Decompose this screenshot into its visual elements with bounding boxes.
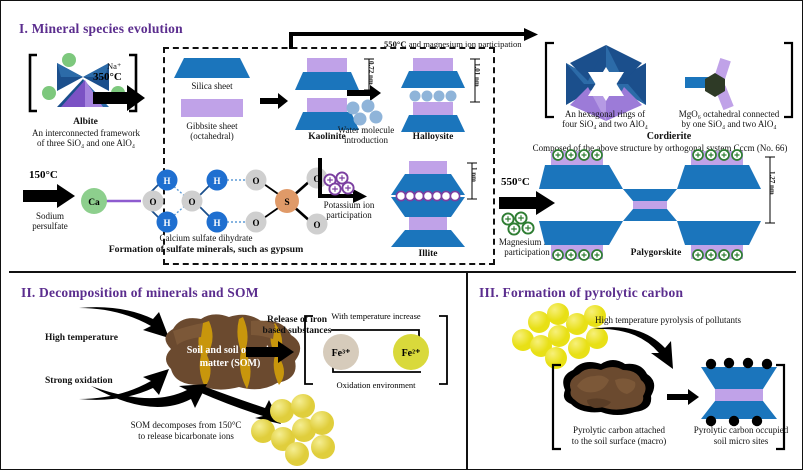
palygorskite-dimension-label: 1.27 nm xyxy=(768,171,776,195)
halloysite-dimension-label: 1.01 nm xyxy=(473,63,481,87)
cordierite-right-caption-1: MgO₆ octahedral connected xyxy=(663,109,795,119)
micro-caption-1: Pyrolytic carbon occupied xyxy=(677,425,803,435)
water-molecule-cluster-icon xyxy=(345,101,385,125)
svg-text:Fe³⁺: Fe³⁺ xyxy=(332,348,351,359)
gypsum-bold-caption: Formation of sulfate minerals, such as g… xyxy=(61,245,351,256)
potassium-label-1: Potassium ion xyxy=(313,200,385,210)
svg-text:Oxidation environment: Oxidation environment xyxy=(336,380,416,390)
arrow-release-iron-icon xyxy=(246,341,294,363)
section-1-title: I. Mineral species evolution xyxy=(19,21,183,37)
section-2-title: II. Decomposition of minerals and SOM xyxy=(21,285,259,301)
albite-name: Albite xyxy=(18,117,153,128)
soil-chunk-with-carbon xyxy=(557,356,667,418)
svg-text:Ca: Ca xyxy=(88,198,100,208)
svg-text:S: S xyxy=(284,198,289,208)
palygorskite-structure xyxy=(539,151,761,251)
albite-desc-2: of three SiO₄ and one AlO₄ xyxy=(7,138,165,148)
svg-text:H: H xyxy=(163,176,170,186)
divider-vertical xyxy=(466,273,468,469)
gypsum-caption: Calcium sulfate dihydrate xyxy=(111,233,301,243)
cordierite-left-caption-2: four SiO₄ and two AlO₄ xyxy=(545,119,665,129)
mgo6-octahedral-icon xyxy=(685,59,745,111)
gibbsite-label-1: Gibbsite sheet xyxy=(167,121,257,131)
svg-text:H: H xyxy=(163,218,170,228)
macro-caption-1: Pyrolytic carbon attached xyxy=(549,425,689,435)
macro-caption-2: to the soil surface (macro) xyxy=(549,436,689,446)
figure-root: I. Mineral species evolution Na⁺ Albite xyxy=(0,0,803,470)
kaolinite-dimension-label: 0.72 nm xyxy=(367,61,375,85)
svg-text:O: O xyxy=(313,220,320,230)
arrow-350-icon xyxy=(93,85,145,111)
section-3-title: III. Formation of pyrolytic carbon xyxy=(479,285,683,301)
albite-desc-1: An interconnected framework xyxy=(7,128,165,138)
gibbsite-label-2: (octahedral) xyxy=(167,131,257,141)
micro-site-clay-structure xyxy=(701,361,777,423)
illite-structure xyxy=(391,161,465,247)
arrow-550-top-rest: and magnesium ion participation xyxy=(407,39,522,49)
arrow-350-temp: 350°C xyxy=(93,71,122,83)
potassium-label-2: participation xyxy=(313,210,385,220)
silica-sheet-label: Silica sheet xyxy=(167,81,257,91)
arrow-550b-temp: 550°C xyxy=(501,176,530,188)
arrow-550-top-temp: 550°C xyxy=(384,39,407,49)
bicarbonate-ion-cluster-icon xyxy=(249,397,339,463)
svg-text:O: O xyxy=(252,176,259,186)
cordierite-name: Cordierite xyxy=(544,131,794,142)
halloysite-structure xyxy=(401,58,465,138)
cordierite-left-caption-1: An hexagonal rings of xyxy=(545,109,665,119)
potassium-ion-cluster-icon xyxy=(323,173,355,195)
svg-text:O: O xyxy=(149,197,156,207)
arrow-550-top-label: 550°C and magnesium ion participation xyxy=(384,39,522,49)
svg-text:H: H xyxy=(213,218,220,228)
svg-text:O: O xyxy=(252,218,259,228)
svg-text:H: H xyxy=(213,176,220,186)
gibbsite-sheet-legend xyxy=(181,99,243,117)
magnesium-ion-cluster-icon xyxy=(501,213,535,235)
palygorskite-name: Palygorskite xyxy=(601,248,711,259)
fe-redox-cycle: Fe³⁺ Fe²⁺ With temperature increase Oxid… xyxy=(301,306,451,394)
halloysite-name: Halloysite xyxy=(391,132,475,143)
illite-name: Illite xyxy=(386,249,470,260)
arrow-to-kaolinite-icon xyxy=(260,93,288,109)
arrow-to-halloysite-icon xyxy=(347,85,381,101)
divider-horizontal xyxy=(9,271,796,273)
micro-caption-2: soil micro sites xyxy=(677,436,803,446)
silica-sheet-legend xyxy=(174,58,250,78)
arrow-carbon-to-micro-icon xyxy=(667,389,699,405)
persulfate-label-2: persulfate xyxy=(15,221,85,231)
arrow-150-temp: 150°C xyxy=(29,169,58,181)
svg-text:With temperature increase: With temperature increase xyxy=(331,311,421,321)
illite-dimension-label: 1 nm xyxy=(470,167,478,182)
gypsum-molecule-diagram: Ca O H H O H H O O S O O xyxy=(79,166,329,236)
arrow-150-icon xyxy=(23,184,75,208)
cordierite-right-caption-2: by one SiO₄ and two AlO₄ xyxy=(663,119,795,129)
svg-text:Fe²⁺: Fe²⁺ xyxy=(402,348,421,359)
persulfate-label-1: Sodium xyxy=(15,211,85,221)
svg-text:O: O xyxy=(188,197,195,207)
